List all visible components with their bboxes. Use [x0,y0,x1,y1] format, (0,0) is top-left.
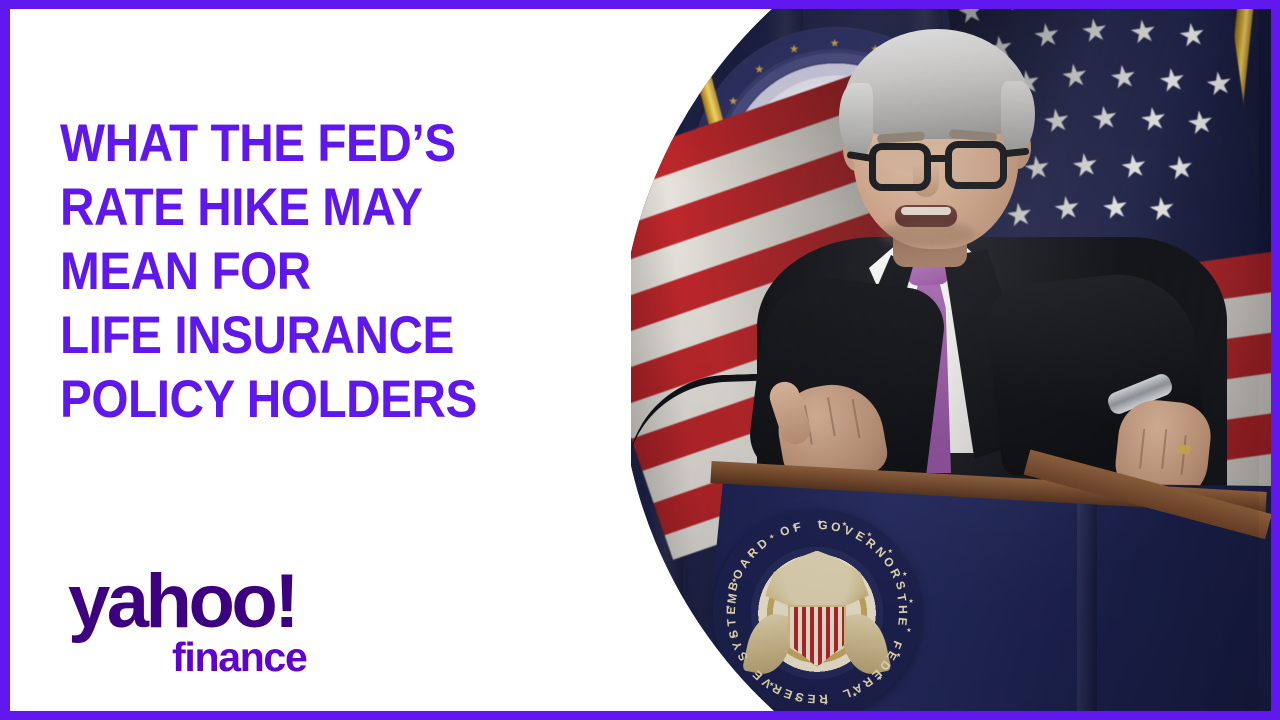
headline-line-5: POLICY HOLDERS [60,368,564,432]
yahoo-wordmark: yahoo! [68,565,368,639]
seal-text-ring: BOARD OF GOVERNORS THE FEDERAL RESERVE S… [713,509,921,711]
thumbnail-photo: BOARD [631,9,1271,711]
press-conference-scene: BOARD [631,9,1259,711]
video-thumbnail: WHAT THE FED’S RATE HIKE MAY MEAN FOR LI… [0,0,1280,720]
thumbnail-card: WHAT THE FED’S RATE HIKE MAY MEAN FOR LI… [10,9,1271,711]
glasses-bridge [929,155,947,162]
page-title: WHAT THE FED’S RATE HIKE MAY MEAN FOR LI… [60,112,564,432]
headline-line-2: RATE HIKE MAY [60,176,564,240]
podium-edge [1077,479,1097,711]
glasses-lens-right [945,141,1007,189]
headline-line-4: LIFE INSURANCE [60,304,564,368]
hair-side-left [839,83,873,157]
teeth [901,207,951,215]
federal-reserve-seal: BOARD OF GOVERNORS THE FEDERAL RESERVE S… [713,509,921,711]
finance-wordmark: finance [172,635,368,679]
chin-shadow [879,221,975,247]
glasses-lens-left [869,143,931,191]
yahoo-finance-logo: yahoo! finance [68,565,368,687]
headline-line-1: WHAT THE FED’S [60,112,564,176]
photo-circle-mask: BOARD [631,9,1271,711]
headline-line-3: MEAN FOR [60,240,564,304]
